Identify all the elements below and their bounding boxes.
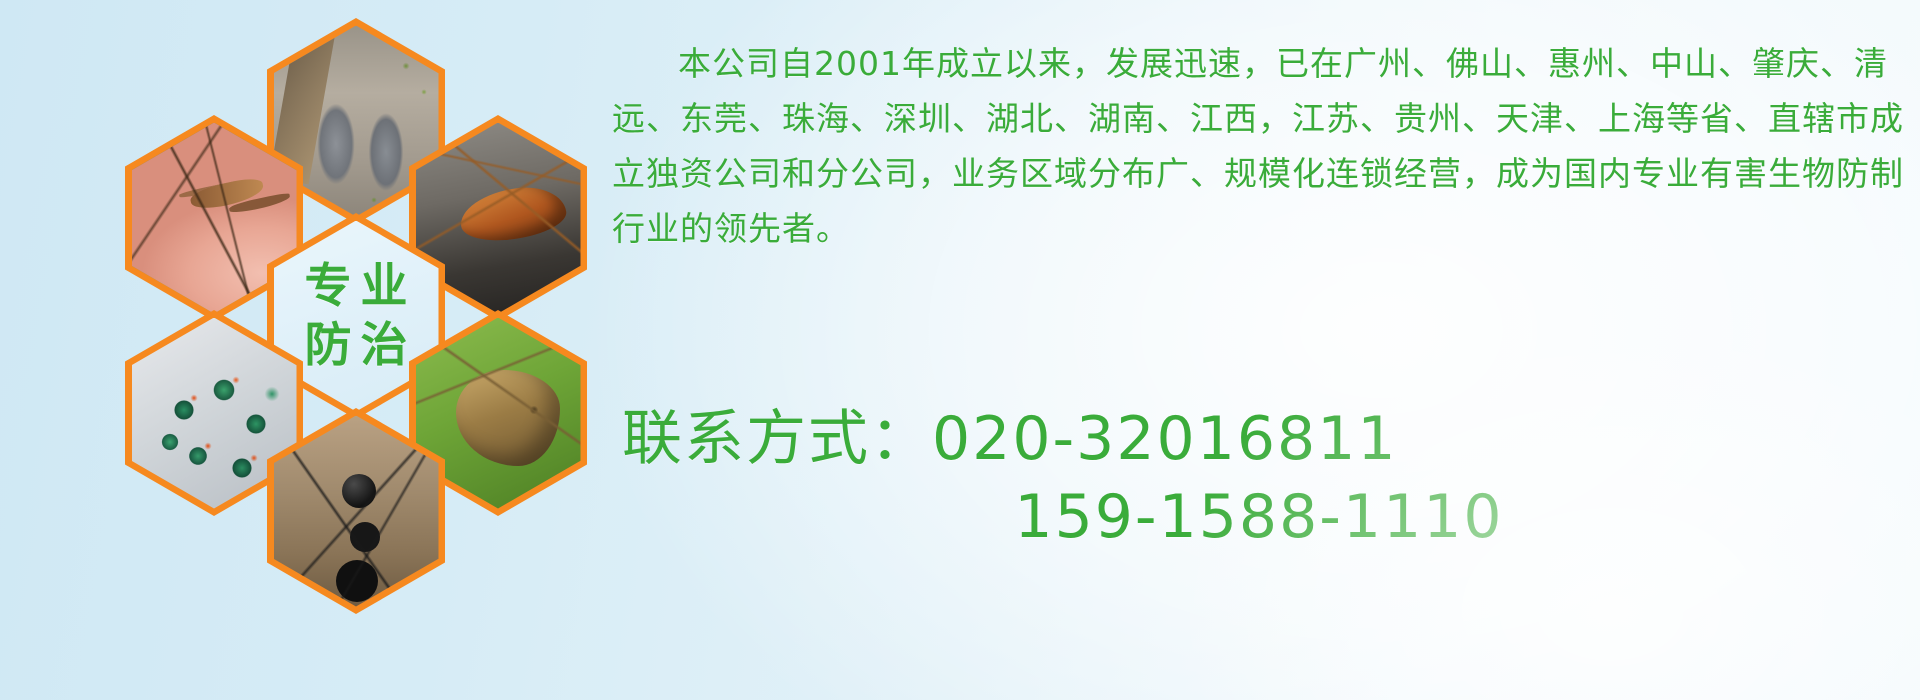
promo-banner: 专业 防治 本公司自2001年成立以来，发展迅速，已在广州、佛山、惠州、中山、肇… <box>0 0 1920 700</box>
company-intro-paragraph: 本公司自2001年成立以来，发展迅速，已在广州、佛山、惠州、中山、肇庆、清远、东… <box>612 36 1912 256</box>
contact-line-landline: 联系方式：020-32016811 <box>622 400 1920 478</box>
ant-photo <box>274 416 439 607</box>
company-intro: 本公司自2001年成立以来，发展迅速，已在广州、佛山、惠州、中山、肇庆、清远、东… <box>612 36 1912 256</box>
badge-line-2: 防治 <box>296 322 417 369</box>
badge-line-1: 专业 <box>296 263 417 310</box>
contact-line-mobile: 159-1588-1110 <box>622 478 1920 556</box>
contact-block: 联系方式：020-32016811 159-1588-1110 <box>622 400 1920 556</box>
banner-content: 本公司自2001年成立以来，发展迅速，已在广州、佛山、惠州、中山、肇庆、清远、东… <box>612 0 1920 700</box>
hexagon-image-cluster: 专业 防治 <box>95 2 615 562</box>
